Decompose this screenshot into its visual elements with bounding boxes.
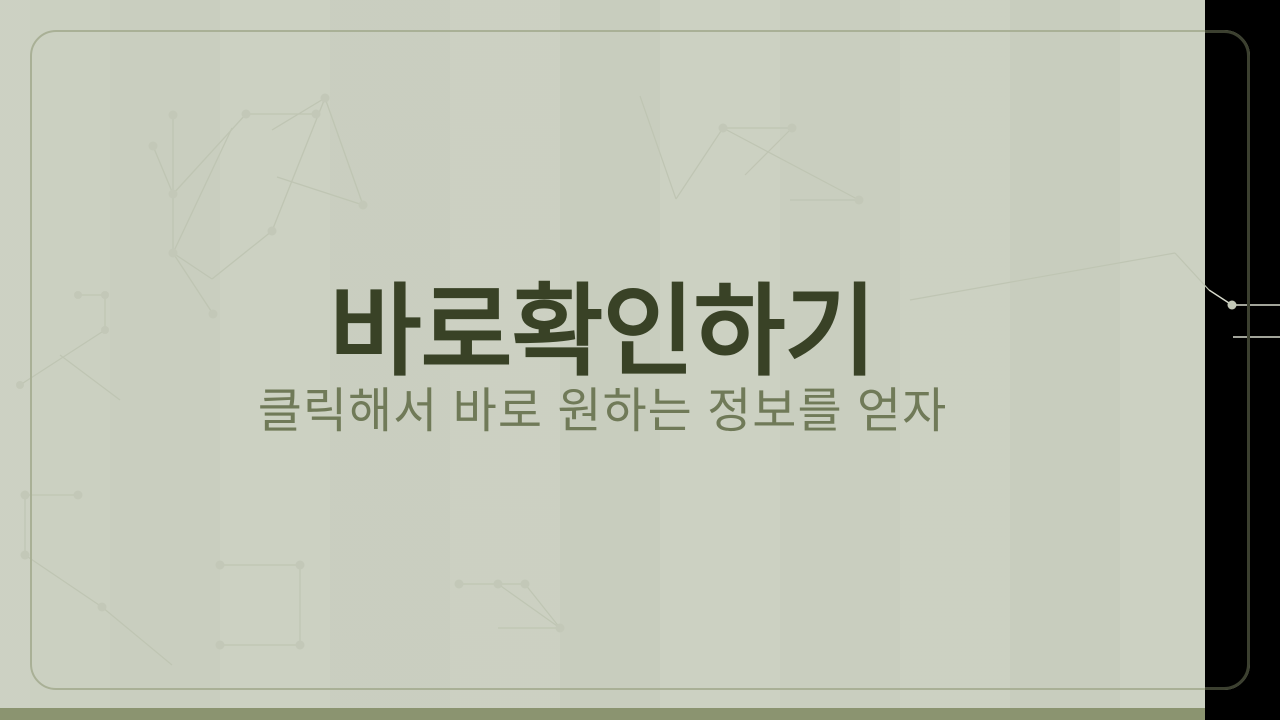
decorative-frame-border-dark-segment: [1205, 0, 1280, 720]
slide-canvas: 바로확인하기 클릭해서 바로 원하는 정보를 얻자: [0, 0, 1280, 720]
slide-subtitle: 클릭해서 바로 원하는 정보를 얻자: [258, 386, 948, 439]
slide-title: 바로확인하기: [330, 282, 876, 382]
slide-text-block: 바로확인하기 클릭해서 바로 원하는 정보를 얻자: [0, 0, 1205, 720]
